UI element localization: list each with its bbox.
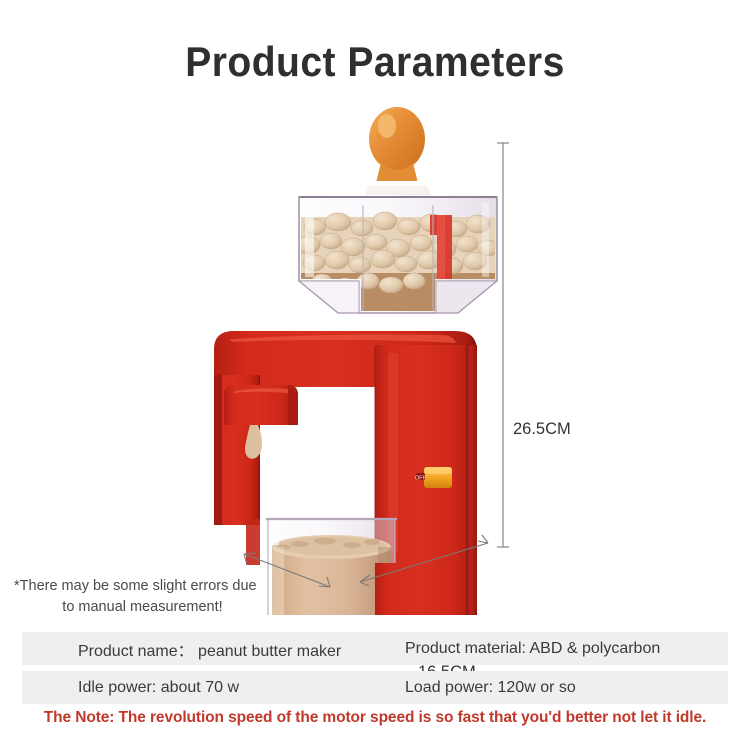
product-parameters-page: Product Parameters	[0, 0, 750, 750]
measurement-disclaimer: *There may be some slight errors due to …	[8, 576, 273, 618]
spec-load-power: Load power: 120w or so	[404, 679, 728, 697]
table-row: Idle power: about 70 w Load power: 120w …	[22, 671, 728, 704]
spec-table: Product name： peanut butter maker Produc…	[22, 632, 728, 710]
product-illustration-stage: OFF	[0, 95, 750, 615]
spec-product-material: Product material: ABD & polycarbon	[404, 640, 728, 658]
measurement-disclaimer-line2: to manual measurement!	[8, 597, 273, 618]
spec-product-name: Product name： peanut butter maker	[22, 637, 404, 661]
dimension-height-label: 26.5CM	[513, 420, 571, 439]
plunger-knob-icon	[369, 107, 425, 188]
measurement-disclaimer-line1: *There may be some slight errors due	[8, 576, 273, 597]
page-title: Product Parameters	[26, 38, 724, 86]
warning-note: The Note: The revolution speed of the mo…	[0, 709, 750, 727]
spec-idle-power: Idle power: about 70 w	[22, 679, 404, 697]
peanut-butter-maker-illustration: OFF	[0, 95, 750, 615]
peanut-hopper	[296, 195, 499, 323]
switch-off-label: OFF	[415, 476, 426, 482]
table-row: Product name： peanut butter maker Produc…	[22, 632, 728, 665]
machine-body: OFF	[214, 331, 486, 615]
